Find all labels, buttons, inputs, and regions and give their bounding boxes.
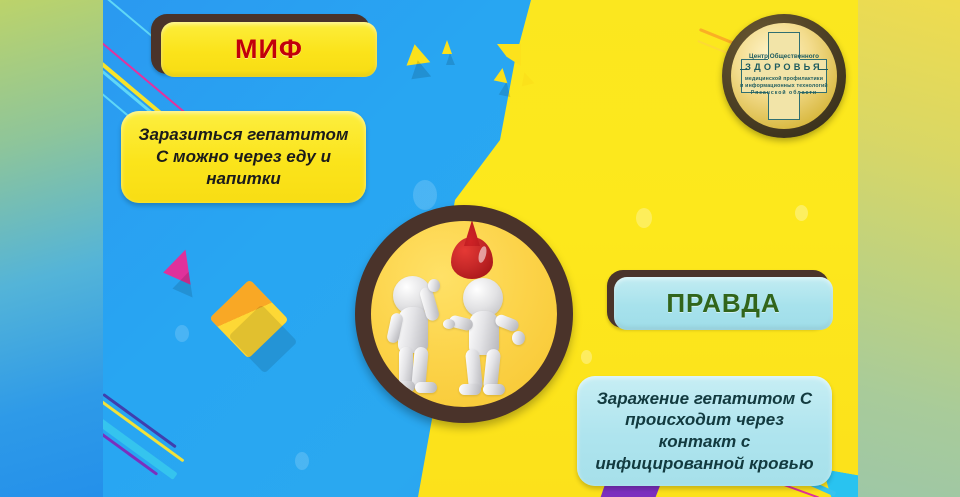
figure-right-pointing-hand	[443, 319, 455, 329]
logo-line-1: Центр Общественного	[731, 54, 837, 61]
poster-canvas: МИФ Заразиться гепатитом С можно через е…	[0, 0, 960, 497]
logo-line-4: и информационных технологий	[731, 84, 837, 89]
myth-body-text: Заразиться гепатитом С можно через еду и…	[133, 124, 354, 189]
logo-face: Центр Общественного ЗДОРОВЬЯ медицинской…	[731, 23, 837, 129]
blood-drop-icon	[451, 237, 493, 279]
figure-right-foot-front	[459, 384, 481, 395]
myth-heading-button[interactable]: МИФ	[161, 22, 377, 77]
figure-left-foot-back	[415, 382, 437, 393]
truth-body-card: Заражение гепатитом С происходит через к…	[577, 376, 832, 486]
figure-left-torso	[398, 307, 428, 353]
logo-line-5: Рязанской области	[731, 91, 837, 96]
logo-line-3: медицинской профилактики	[731, 77, 837, 82]
figure-left-foot-front	[393, 381, 415, 392]
myth-heading-label: МИФ	[235, 34, 303, 65]
myth-body-card: Заразиться гепатитом С можно через еду и…	[121, 111, 366, 203]
truth-heading-label: ПРАВДА	[666, 288, 780, 319]
truth-body-text: Заражение гепатитом С происходит через к…	[589, 388, 820, 475]
organization-logo: Центр Общественного ЗДОРОВЬЯ медицинской…	[722, 14, 846, 138]
emblem-face	[371, 221, 557, 407]
figure-right-hand-back	[512, 331, 525, 345]
figure-right-foot-back	[483, 384, 505, 395]
logo-line-2: ЗДОРОВЬЯ	[731, 63, 837, 73]
central-emblem	[355, 205, 573, 423]
truth-heading-button[interactable]: ПРАВДА	[614, 277, 833, 330]
figure-left-hand	[428, 279, 440, 292]
